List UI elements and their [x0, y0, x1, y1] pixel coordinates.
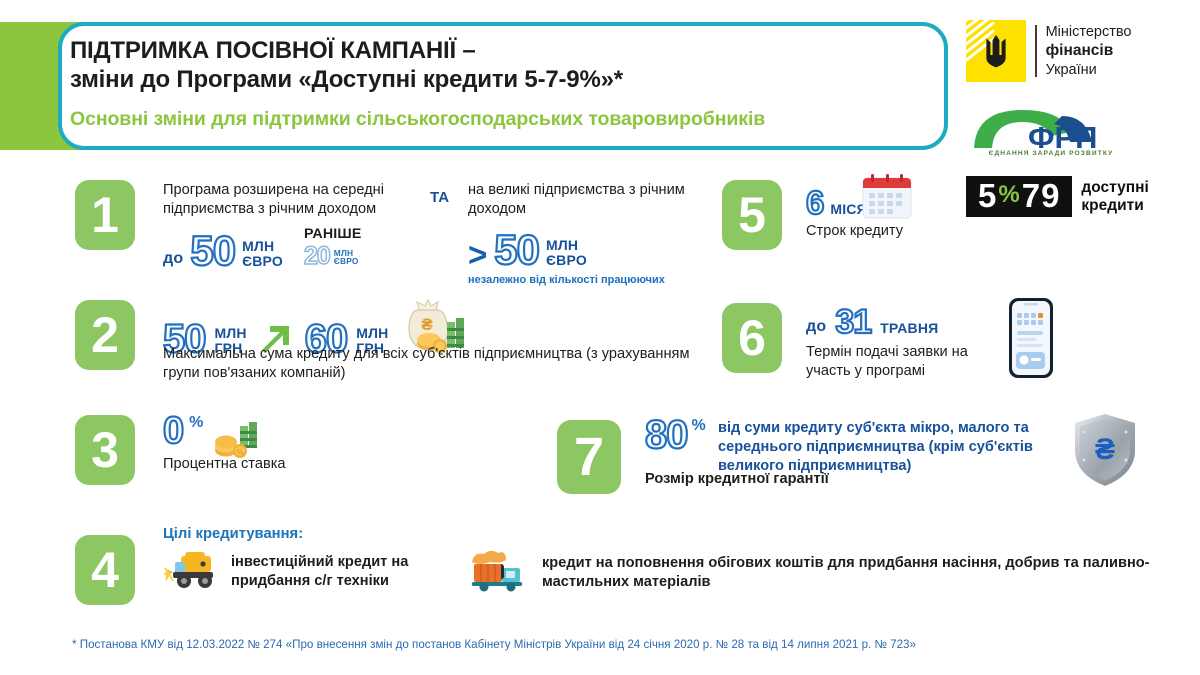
item-7-subtitle: Розмір кредитної гарантії [645, 470, 829, 489]
item-1-previous-unit: МЛН ЄВРО [334, 249, 359, 266]
infographic-canvas: ПІДТРИМКА ПОСІВНОЇ КАМПАНІЇ – зміни до П… [0, 0, 1200, 675]
item-7-percent-symbol: % [692, 417, 706, 435]
ministry-logo-text: Міністерство фінансів України [1046, 23, 1132, 79]
item-1-conjunction: ТА [430, 189, 449, 206]
item-6-unit: ТРАВНЯ [880, 321, 938, 335]
item-6-badge: 6 [722, 303, 782, 373]
item-1-note: незалежно від кількості працюючих [468, 274, 708, 286]
item-7-badge: 7 [557, 420, 621, 494]
item-1-right-values: > 50 МЛН ЄВРО [468, 229, 708, 271]
program-percent-icon: % [997, 183, 1021, 207]
item-1-unit: МЛН ЄВРО [242, 239, 283, 268]
ministry-emblem-icon [966, 20, 1026, 82]
item-1-previous-value: 20 [304, 244, 330, 269]
logo-group: Міністерство фінансів України ФРП ЄДНАНН… [966, 16, 1182, 217]
svg-text:₴: ₴ [422, 315, 434, 334]
item-4-purpose-b: кредит на поповнення обігових коштів для… [466, 548, 1162, 597]
frp-abbr: ФРП [1028, 120, 1097, 154]
program-text-line-1: доступні [1081, 179, 1148, 196]
item-4-purpose-a: інвестиційний кредит на придбання с/г те… [163, 548, 446, 595]
item-3-badge: 3 [75, 415, 135, 485]
item-7-text: від суми кредиту суб'єкта мікро, малого … [718, 419, 1068, 476]
footnote: * Постанова КМУ від 12.03.2022 № 274 «Пр… [72, 637, 1132, 652]
ministry-line-3: України [1046, 61, 1132, 79]
header-content: ПІДТРИМКА ПОСІВНОЇ КАМПАНІЇ – зміни до П… [70, 28, 950, 146]
program-digit-9: 9 [1041, 179, 1060, 212]
item-1-value: 50 [190, 230, 235, 272]
item-1-left-column: Програма розширена на середні підприємст… [163, 181, 413, 272]
program-digit-7: 7 [1022, 179, 1041, 212]
item-6-prefix: до [806, 319, 826, 335]
item-6-value: 31 [835, 305, 871, 339]
ministry-line-1: Міністерство [1046, 23, 1132, 41]
item-1-unit-line-2: ЄВРО [242, 254, 283, 268]
shield-guarantee-icon: ₴ [1072, 412, 1138, 493]
item-3-percent-symbol: % [189, 414, 203, 432]
item-2-from-unit-1: МЛН [215, 326, 247, 340]
item-2-to-unit-1: МЛН [356, 326, 388, 340]
page-title: ПІДТРИМКА ПОСІВНОЇ КАМПАНІЇ – зміни до П… [70, 28, 950, 95]
item-1-left-text: Програма розширена на середні підприємст… [163, 181, 413, 219]
mobile-phone-icon [1008, 297, 1054, 384]
frp-tagline: ЄДНАННЯ ЗАРАДИ РОЗВИТКУ [966, 150, 1136, 157]
item-3-values: 0 % % [163, 412, 266, 461]
program-logo-text: доступні кредити [1081, 179, 1148, 214]
item-1-prefix: до [163, 251, 183, 267]
item-6-description: Термін подачі заявки на участь у програм… [806, 343, 996, 381]
item-2-badge: 2 [75, 300, 135, 370]
logo-ministry-of-finance: Міністерство фінансів України [966, 16, 1182, 86]
item-7-values: 80 % [645, 415, 706, 455]
item-7-value: 80 [645, 415, 688, 455]
program-text-line-2: кредити [1081, 197, 1148, 214]
item-1-previous-unit-2: ЄВРО [334, 257, 359, 266]
item-1-right-unit-2: ЄВРО [546, 253, 587, 267]
item-1-right-value: 50 [494, 229, 539, 271]
item-1-greater-than-icon: > [468, 238, 487, 271]
item-1-unit-line-1: МЛН [242, 239, 283, 253]
item-1-right-unit: МЛН ЄВРО [546, 238, 587, 267]
item-1-right-text: на великі підприємства з річним доходом [468, 181, 708, 219]
item-1-badge: 1 [75, 180, 135, 250]
item-3-value: 0 [163, 412, 183, 450]
item-1-right-unit-1: МЛН [546, 238, 587, 252]
trident-icon [983, 34, 1009, 68]
item-6-content: до 31 ТРАВНЯ Термін подачі заявки на уча… [806, 305, 996, 381]
item-5-value: 6 [806, 186, 823, 219]
svg-text:₴: ₴ [1095, 433, 1115, 466]
item-5-badge: 5 [722, 180, 782, 250]
frp-mark-icon: ФРП [966, 102, 1136, 154]
logo-frp: ФРП ЄДНАННЯ ЗАРАДИ РОЗВИТКУ [966, 102, 1136, 162]
item-1-previous-block: РАНІШЕ 20 МЛН ЄВРО [304, 226, 362, 269]
item-1-previous-label: РАНІШЕ [304, 226, 362, 242]
item-4-title: Цілі кредитування: [163, 526, 303, 542]
item-4-badge: 4 [75, 535, 135, 605]
item-1-left-values: до 50 МЛН ЄВРО РАНІШЕ 20 МЛН ЄВРО [163, 229, 413, 272]
ministry-line-2: фінансів [1046, 41, 1132, 61]
item-4-purpose-b-text: кредит на поповнення обігових коштів для… [542, 554, 1162, 592]
item-6-values: до 31 ТРАВНЯ [806, 305, 996, 339]
item-1-right-column: на великі підприємства з річним доходом … [468, 181, 708, 286]
logo-divider [1035, 25, 1037, 77]
calendar-icon [860, 172, 914, 227]
fuel-truck-icon [466, 548, 528, 597]
item-4-purpose-a-text: інвестиційний кредит на придбання с/г те… [231, 553, 446, 591]
program-digit-5: 5 [978, 179, 997, 212]
item-3-description: Процентна ставка [163, 455, 323, 474]
logo-program-579: 5%79 доступні кредити [966, 176, 1182, 217]
page-subtitle: Основні зміни для підтримки сільськогосп… [70, 95, 950, 131]
program-digits-badge: 5%79 [966, 176, 1072, 217]
item-2-description: Максимальна сума кредиту для всіх суб'єк… [163, 345, 703, 383]
harvester-icon [163, 548, 219, 595]
